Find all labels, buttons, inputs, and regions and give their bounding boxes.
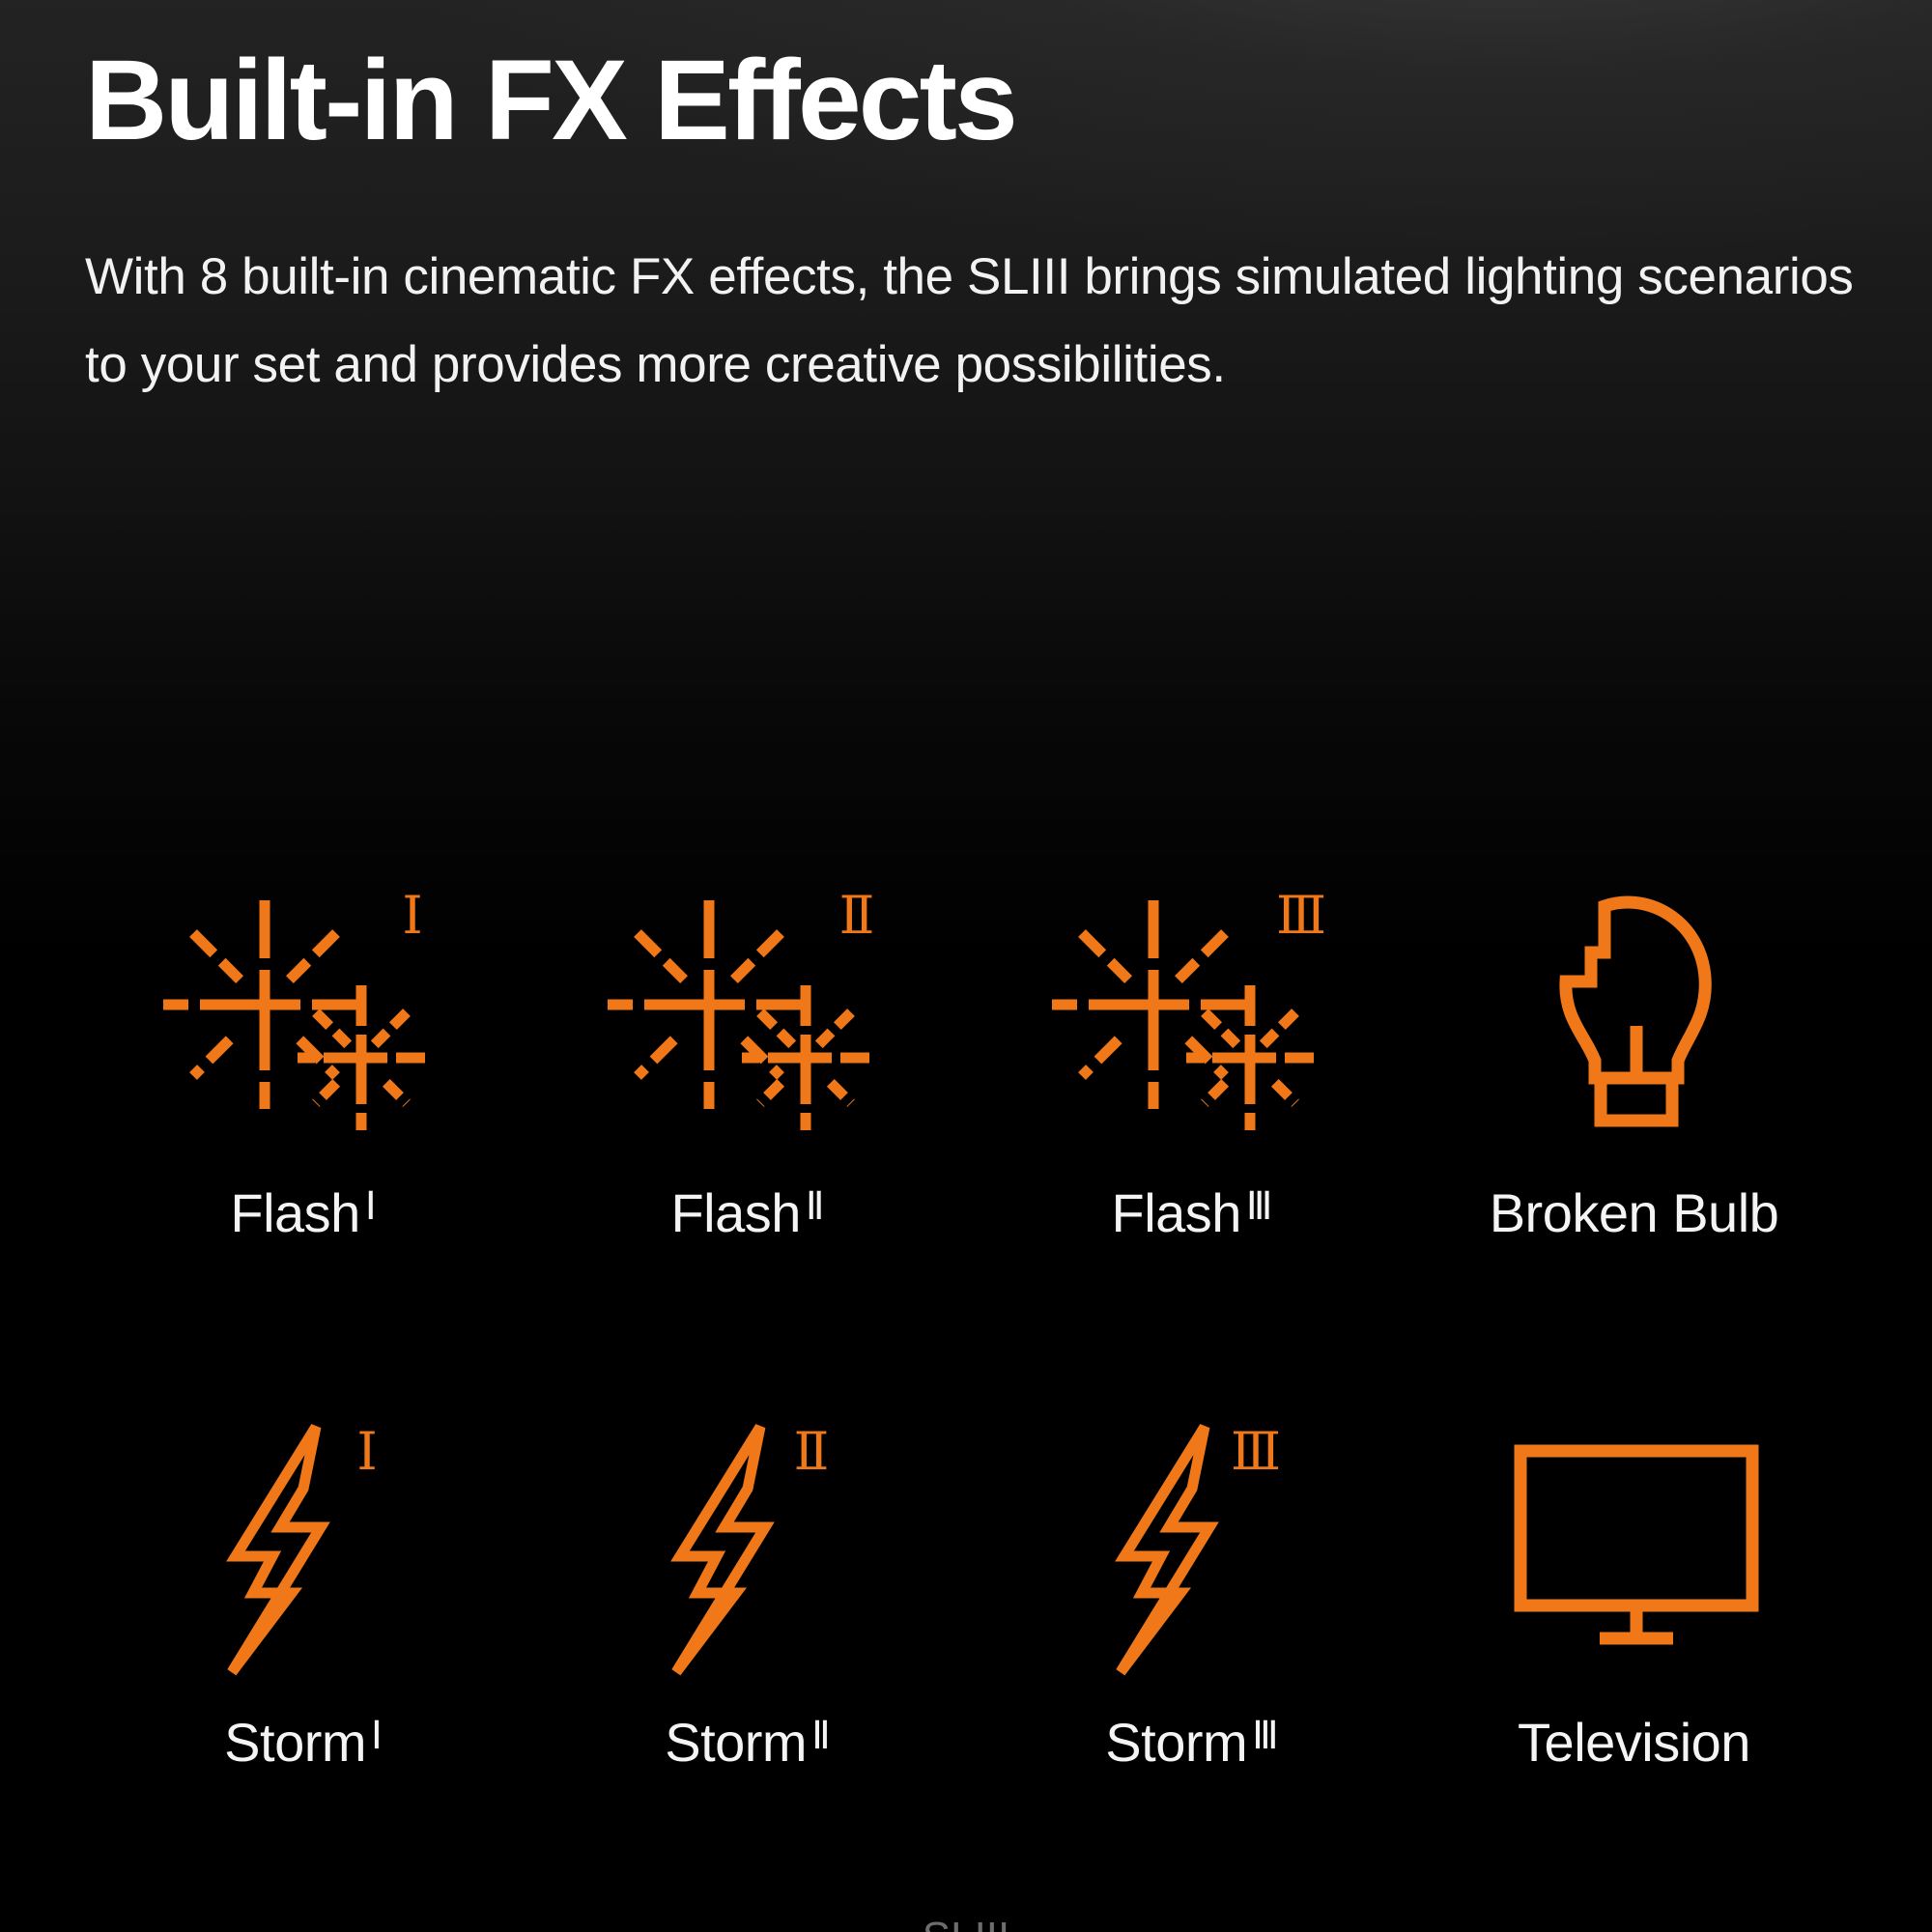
fx-item-broken-bulb[interactable]: Broken Bulb <box>1414 874 1859 1377</box>
fx-label-text: Storm <box>224 1711 366 1774</box>
fx-label: Storm Ⅲ <box>1105 1711 1278 1774</box>
lightning-bolt-icon: Ⅰ <box>158 1404 448 1693</box>
intro-paragraph: With 8 built-in cinematic FX effects, th… <box>85 233 1862 409</box>
fx-label-text: Flash <box>230 1181 359 1244</box>
television-icon <box>1492 1404 1781 1693</box>
roman-numeral-badge: Ⅰ <box>356 1423 377 1481</box>
fx-label: Storm Ⅱ <box>665 1711 831 1774</box>
fx-label: Flash Ⅲ <box>1111 1181 1272 1244</box>
fx-label-text: Television <box>1518 1711 1750 1774</box>
fx-label-text: Flash <box>1111 1181 1240 1244</box>
lightning-bolt-icon: Ⅲ <box>1047 1404 1337 1693</box>
lightning-bolt-icon: Ⅱ <box>603 1404 893 1693</box>
flash-burst-icon: Ⅰ <box>158 874 448 1164</box>
roman-numeral-badge: Ⅱ <box>839 887 875 945</box>
flash-burst-icon: Ⅲ <box>1047 874 1337 1164</box>
fx-label: Flash Ⅰ <box>230 1181 376 1244</box>
fx-label-numeral: Ⅰ <box>365 1184 377 1229</box>
fx-label-text: Storm <box>665 1711 807 1774</box>
fx-label: Storm Ⅰ <box>224 1711 383 1774</box>
fx-effects-page: Built-in FX Effects With 8 built-in cine… <box>0 0 1932 1932</box>
fx-label-numeral: Ⅰ <box>371 1714 383 1758</box>
fx-item-storm-1[interactable]: Ⅰ Storm Ⅰ <box>81 1404 526 1906</box>
page-title: Built-in FX Effects <box>85 41 1853 161</box>
fx-label-numeral: Ⅲ <box>1252 1714 1279 1758</box>
fx-item-storm-2[interactable]: Ⅱ Storm Ⅱ <box>526 1404 970 1906</box>
fx-item-storm-3[interactable]: Ⅲ Storm Ⅲ <box>970 1404 1414 1906</box>
roman-numeral-badge: Ⅱ <box>794 1423 830 1481</box>
fx-label-numeral: Ⅱ <box>806 1184 825 1229</box>
fx-label: Television <box>1518 1711 1755 1774</box>
fx-item-flash-2[interactable]: Ⅱ Flash Ⅱ <box>526 874 970 1377</box>
fx-label-numeral: Ⅲ <box>1246 1184 1273 1229</box>
fx-item-television[interactable]: Television <box>1414 1404 1859 1906</box>
fx-label-numeral: Ⅱ <box>811 1714 831 1758</box>
fx-effects-grid: Ⅰ Flash Ⅰ <box>81 874 1859 1906</box>
bottom-cutoff-text: · SLIII · <box>0 1917 1932 1932</box>
roman-numeral-badge: Ⅰ <box>402 887 422 945</box>
fx-label: Flash Ⅱ <box>670 1181 824 1244</box>
fx-item-flash-1[interactable]: Ⅰ Flash Ⅰ <box>81 874 526 1377</box>
fx-label-text: Broken Bulb <box>1490 1181 1779 1244</box>
fx-item-flash-3[interactable]: Ⅲ Flash Ⅲ <box>970 874 1414 1377</box>
fx-label-text: Flash <box>670 1181 800 1244</box>
flash-burst-icon: Ⅱ <box>603 874 893 1164</box>
fx-label: Broken Bulb <box>1490 1181 1784 1244</box>
roman-numeral-badge: Ⅲ <box>1231 1423 1281 1481</box>
fx-label-text: Storm <box>1105 1711 1247 1774</box>
page-header: Built-in FX Effects With 8 built-in cine… <box>85 41 1853 409</box>
broken-bulb-icon <box>1492 874 1781 1164</box>
roman-numeral-badge: Ⅲ <box>1276 887 1326 945</box>
